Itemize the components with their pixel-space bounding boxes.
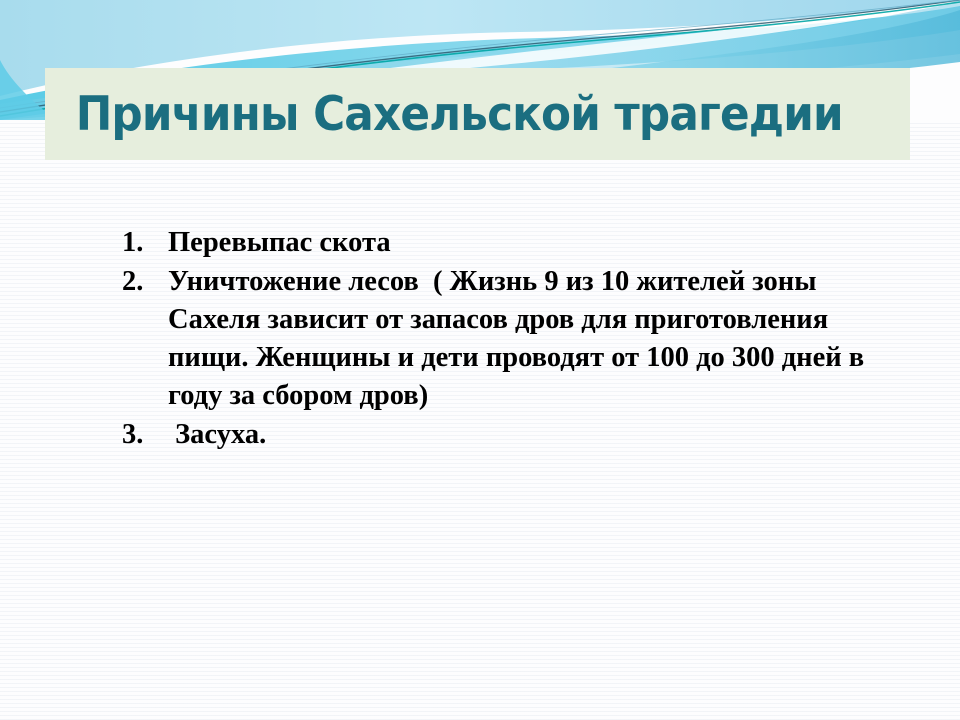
list-item-label: Уничтожение лесов ( Жизнь 9 из 10 жителе…	[168, 263, 912, 415]
presentation-slide: Причины Сахельской трагедии 1. Перевыпас…	[0, 0, 960, 720]
list-item-label: Перевыпас скота	[168, 224, 912, 262]
list-item: 3. Засуха.	[122, 416, 912, 454]
numbered-list: 1. Перевыпас скота 2. Уничтожение лесов …	[122, 224, 912, 454]
list-item-marker: 3.	[122, 416, 158, 454]
list-item-label: Засуха.	[168, 416, 912, 454]
list-item-marker: 1.	[122, 224, 158, 262]
page-title: Причины Сахельской трагедии	[45, 91, 843, 138]
list-item-marker: 2.	[122, 263, 158, 301]
list-item: 1. Перевыпас скота	[122, 224, 912, 262]
slide-title-band: Причины Сахельской трагедии	[45, 68, 910, 160]
slide-content-body: 1. Перевыпас скота 2. Уничтожение лесов …	[122, 224, 912, 455]
list-item: 2. Уничтожение лесов ( Жизнь 9 из 10 жит…	[122, 263, 912, 415]
